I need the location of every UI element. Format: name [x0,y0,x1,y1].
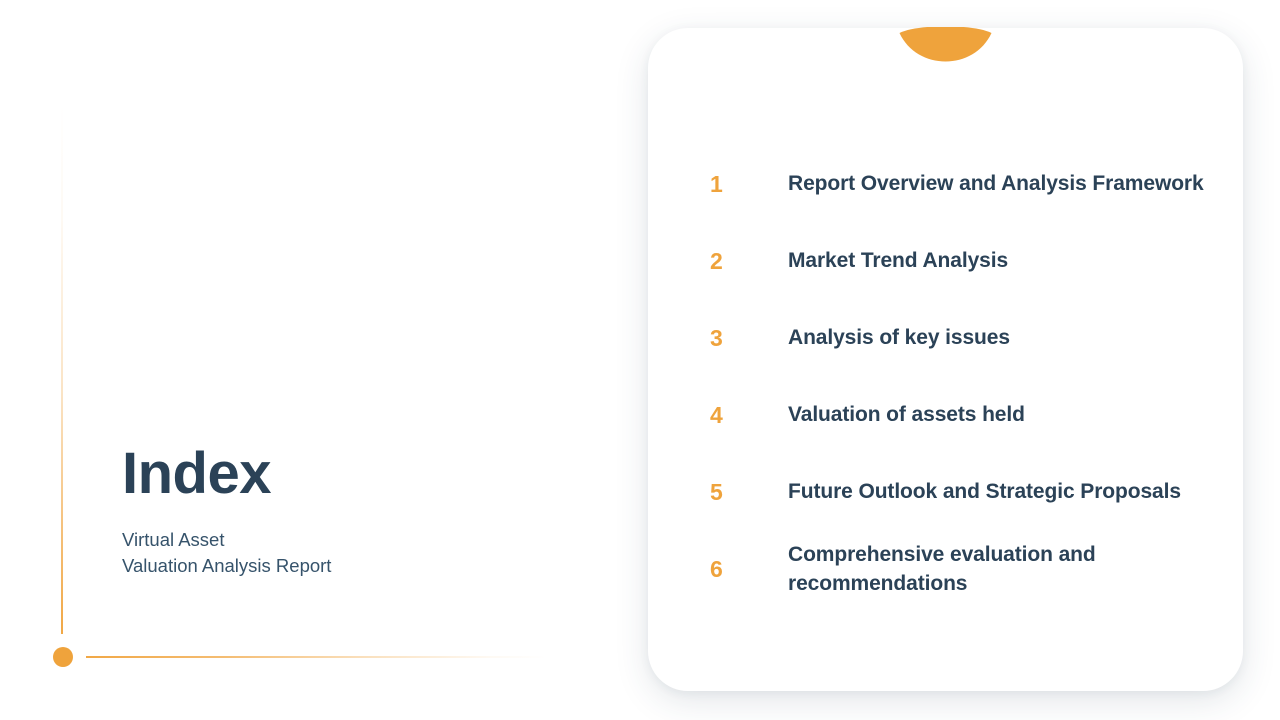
left-panel: Index Virtual Asset Valuation Analysis R… [0,0,640,720]
list-item-number: 4 [710,404,746,427]
list-item[interactable]: 4 Valuation of assets held [710,377,1213,454]
index-card: 1 Report Overview and Analysis Framework… [648,28,1243,691]
list-item-label: Market Trend Analysis [788,247,1213,276]
subtitle-line-2: Valuation Analysis Report [122,553,592,579]
horizontal-gradient-rule-icon [86,656,546,658]
list-item-label: Future Outlook and Strategic Proposals [788,478,1213,507]
list-item-number: 5 [710,481,746,504]
list-item[interactable]: 6 Comprehensive evaluation and recommend… [710,531,1213,608]
list-item-number: 3 [710,327,746,350]
page-title: Index [122,443,592,504]
list-item[interactable]: 3 Analysis of key issues [710,300,1213,377]
list-item-label: Report Overview and Analysis Framework [788,170,1213,199]
list-item[interactable]: 5 Future Outlook and Strategic Proposals [710,454,1213,531]
node-dot-icon [53,647,73,667]
list-item[interactable]: 1 Report Overview and Analysis Framework [710,146,1213,223]
list-item-number: 1 [710,173,746,196]
subtitle-line-1: Virtual Asset [122,527,592,553]
index-list: 1 Report Overview and Analysis Framework… [648,146,1243,608]
list-item-label: Comprehensive evaluation and recommendat… [788,541,1213,599]
list-item-label: Analysis of key issues [788,324,1213,353]
list-item-number: 6 [710,558,746,581]
list-item[interactable]: 2 Market Trend Analysis [710,223,1213,300]
list-item-label: Valuation of assets held [788,401,1213,430]
page-subtitle: Virtual Asset Valuation Analysis Report [122,527,592,578]
index-slide: Index Virtual Asset Valuation Analysis R… [0,0,1280,720]
list-item-number: 2 [710,250,746,273]
vertical-gradient-rule-icon [61,104,63,634]
title-block: Index Virtual Asset Valuation Analysis R… [122,443,592,579]
